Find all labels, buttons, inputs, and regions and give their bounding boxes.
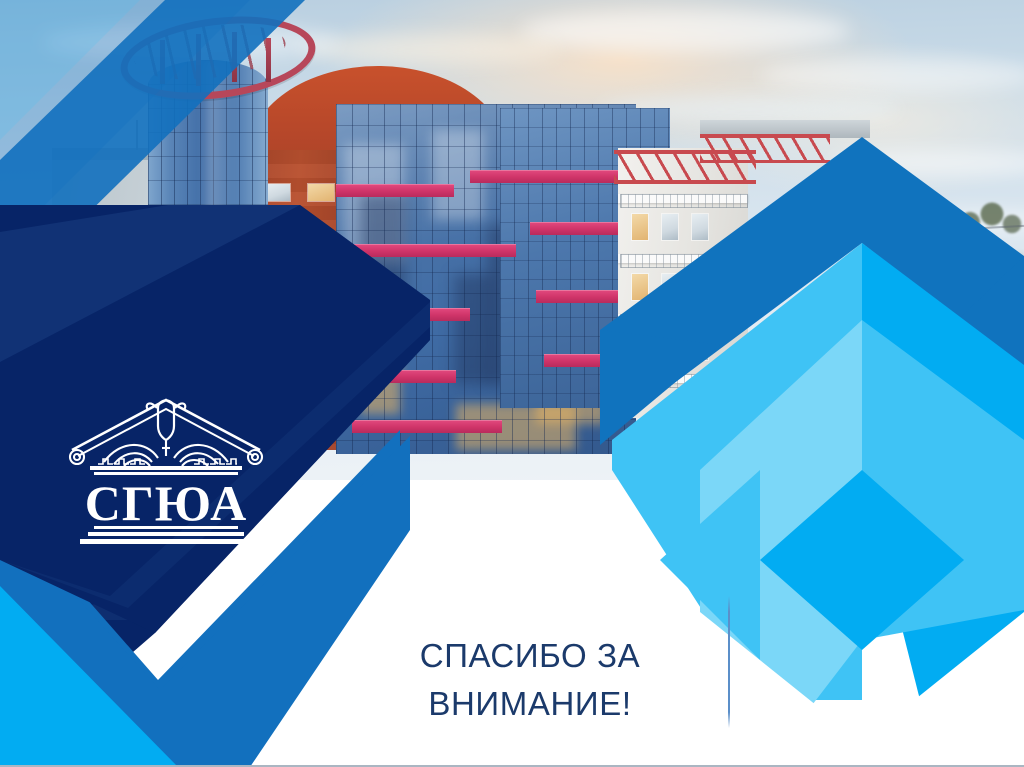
thank-you-title: СПАСИБО ЗА ВНИМАНИЕ! (362, 632, 698, 728)
logo-acronym: СГЮА (85, 475, 247, 531)
logo-sgua: СГЮА (58, 378, 274, 548)
vertical-divider (728, 596, 730, 728)
slide-canvas: СГЮА СПАСИБО ЗА ВНИМАНИЕ! (0, 0, 1024, 767)
